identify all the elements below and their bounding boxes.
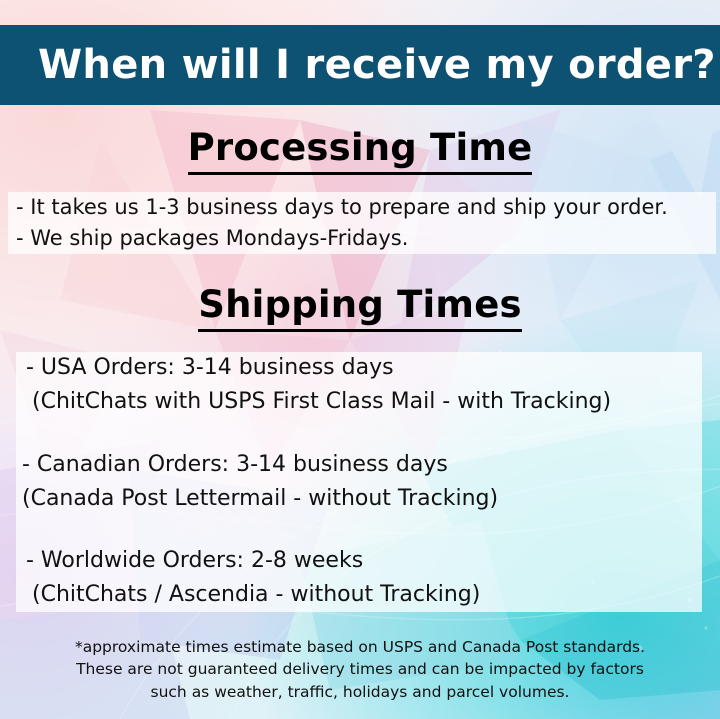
shipping-group-worldwide-secondary: (ChitChats / Ascendia - without Tracking…	[32, 582, 480, 607]
shipping-group-worldwide-primary: - Worldwide Orders: 2-8 weeks	[26, 548, 480, 573]
footer-disclaimer: *approximate times estimate based on USP…	[0, 636, 720, 703]
section-heading-processing-time-text: Processing Time	[188, 126, 533, 175]
footer-disclaimer-line-3: such as weather, traffic, holidays and p…	[0, 681, 720, 703]
page-header-banner: When will I receive my order?	[0, 25, 720, 105]
shipping-info-poster: When will I receive my order? Processing…	[0, 0, 720, 719]
shipping-group-canada-primary: - Canadian Orders: 3-14 business days	[22, 452, 498, 477]
shipping-group-canada: - Canadian Orders: 3-14 business days (C…	[22, 452, 498, 511]
section-heading-shipping-times: Shipping Times	[0, 283, 720, 326]
shipping-group-canada-secondary: (Canada Post Lettermail - without Tracki…	[22, 486, 498, 511]
section-heading-shipping-times-text: Shipping Times	[198, 283, 521, 332]
processing-time-line-2: - We ship packages Mondays-Fridays.	[16, 228, 408, 249]
footer-disclaimer-line-1: *approximate times estimate based on USP…	[0, 636, 720, 658]
page-title: When will I receive my order?	[38, 42, 716, 88]
shipping-group-usa-primary: - USA Orders: 3-14 business days	[26, 355, 611, 380]
shipping-group-usa: - USA Orders: 3-14 business days (ChitCh…	[26, 355, 611, 414]
shipping-group-worldwide: - Worldwide Orders: 2-8 weeks (ChitChats…	[26, 548, 480, 607]
processing-time-line-1: - It takes us 1-3 business days to prepa…	[16, 197, 668, 218]
shipping-group-usa-secondary: (ChitChats with USPS First Class Mail - …	[32, 389, 611, 414]
footer-disclaimer-line-2: These are not guaranteed delivery times …	[0, 658, 720, 680]
section-heading-processing-time: Processing Time	[0, 126, 720, 169]
